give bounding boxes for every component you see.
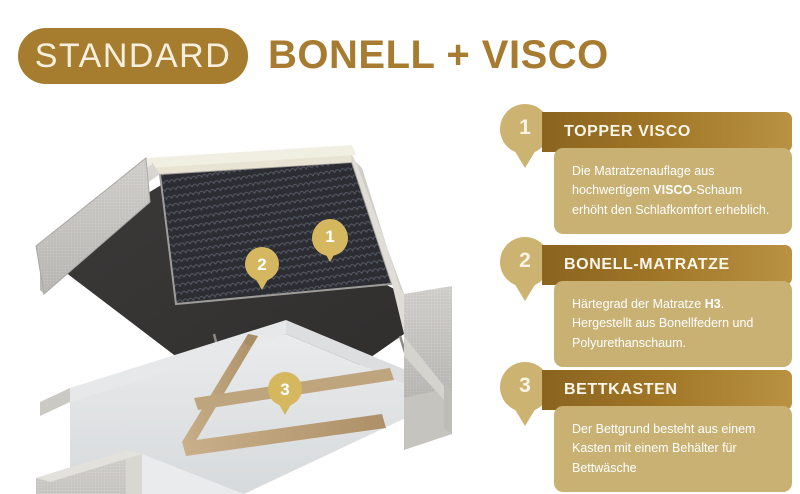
bed-left-edge: [40, 388, 70, 416]
info-text-2: Härtegrad der Matratze H3. Hergestellt a…: [572, 295, 776, 353]
info-body-1: Die Matratzenauflage aus hochwertigem VI…: [554, 148, 792, 234]
header: STANDARD BONELL + VISCO: [0, 0, 800, 100]
info-panel: 1 TOPPER VISCO Die Matratzenauflage aus …: [496, 104, 800, 488]
info-title-bar-3: BETTKASTEN: [542, 370, 792, 410]
info-text-1-bold: VISCO: [653, 183, 692, 197]
info-title-1: TOPPER VISCO: [564, 123, 691, 141]
bed-illustration: 1 2 3: [0, 98, 492, 494]
info-title-bar-2: BONELL-MATRATZE: [542, 245, 792, 285]
page-title: BONELL + VISCO: [268, 33, 609, 78]
svg-text:3: 3: [280, 380, 289, 399]
badge-label: STANDARD: [35, 37, 232, 76]
info-title-2: BONELL-MATRATZE: [564, 256, 730, 274]
info-body-3: Der Bettgrund besteht aus einem Kasten m…: [554, 406, 792, 492]
svg-text:2: 2: [257, 255, 266, 274]
info-text-1: Die Matratzenauflage aus hochwertigem VI…: [572, 162, 776, 220]
standard-badge: STANDARD: [18, 28, 248, 84]
info-text-2-before: Härtegrad der Matratze: [572, 297, 705, 311]
info-title-3: BETTKASTEN: [564, 381, 678, 399]
info-body-2: Härtegrad der Matratze H3. Hergestellt a…: [554, 281, 792, 367]
info-text-3-before: Der Bettgrund besteht aus einem Kasten m…: [572, 422, 755, 475]
bonell-mattress-layer: [160, 162, 392, 304]
info-title-bar-1: TOPPER VISCO: [542, 112, 792, 152]
info-text-2-bold: H3: [705, 297, 721, 311]
info-text-3: Der Bettgrund besteht aus einem Kasten m…: [572, 420, 776, 478]
svg-text:1: 1: [325, 227, 334, 246]
